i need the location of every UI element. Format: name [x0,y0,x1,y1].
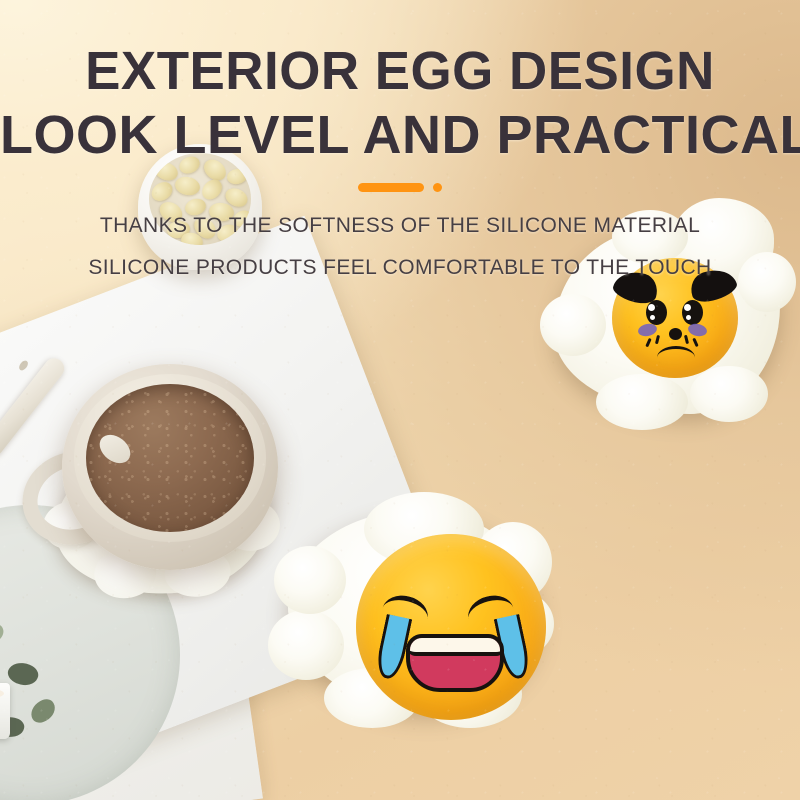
crying-face-egg [268,492,560,732]
subtitle-line-2: SILICONE PRODUCTS FEEL COMFORTABLE TO TH… [0,256,800,280]
subtitle-line-1: THANKS TO THE SOFTNESS OF THE SILICONE M… [0,214,800,238]
dog-nose-icon [669,328,682,340]
headline-line-2: LOOK LEVEL AND PRACTICAL [0,108,800,162]
crying-mouth-icon [406,634,504,692]
page-title: EXTERIOR EGG DESIGN LOOK LEVEL AND PRACT… [0,44,800,162]
dog-blush-right-icon [687,322,708,338]
dog-blush-left-icon [637,322,658,338]
headline-line-1: EXTERIOR EGG DESIGN [8,44,792,98]
crying-teeth-icon [406,634,504,656]
promo-banner: Lif [0,0,800,800]
candle-icon [0,683,10,739]
mug-rim [74,374,266,542]
dog-frown-icon [657,346,695,369]
coffee-mug [62,364,278,570]
divider-dot-icon [433,183,442,192]
divider-bar-icon [358,183,424,192]
divider [0,183,800,192]
crying-egg-yolk [356,534,546,720]
